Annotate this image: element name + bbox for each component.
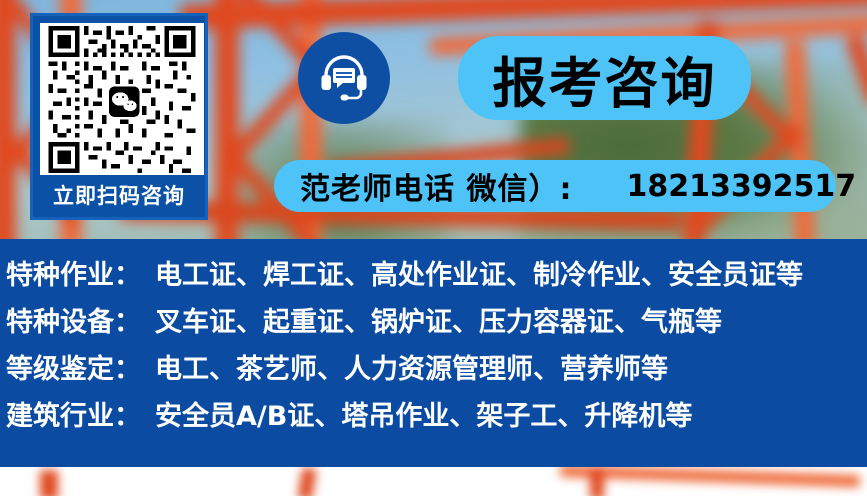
support-headset-badge[interactable] [298, 32, 390, 124]
qr-code-image-frame [40, 23, 204, 175]
promo-poster: 立即扫码咨询 报考咨询 范老师电话 微信）: 18213392517 特种作业： [0, 0, 867, 496]
category-value: 叉车证、起重证、锅炉证、压力容器证、气瓶等 [155, 300, 722, 339]
contact-label: 范老师电话 微信）: [300, 164, 572, 208]
category-row-special-operations: 特种作业： 电工证、焊工证、高处作业证、制冷作业、安全员证等 [0, 253, 867, 300]
category-value: 电工证、焊工证、高处作业证、制冷作业、安全员证等 [155, 253, 803, 292]
category-row-construction-industry: 建筑行业： 安全员A/B证、塔吊作业、架子工、升降机等 [0, 394, 867, 441]
certificate-categories-panel: 特种作业： 电工证、焊工证、高处作业证、制冷作业、安全员证等 特种设备： 叉车证… [0, 239, 867, 467]
category-value: 安全员A/B证、塔吊作业、架子工、升降机等 [155, 394, 692, 433]
contact-phone-pill[interactable]: 范老师电话 微信）: 18213392517 [274, 160, 836, 212]
category-value: 电工、茶艺师、人力资源管理师、营养师等 [155, 347, 668, 386]
category-row-special-equipment: 特种设备： 叉车证、起重证、锅炉证、压力容器证、气瓶等 [0, 300, 867, 347]
category-label: 建筑行业： [6, 394, 141, 433]
headset-icon [314, 48, 374, 108]
category-label: 等级鉴定： [6, 347, 141, 386]
consult-title-pill: 报考咨询 [458, 36, 751, 120]
category-label: 特种作业： [6, 253, 141, 292]
wechat-qr-code-icon [44, 26, 200, 173]
contact-phone-number[interactable]: 18213392517 [626, 169, 856, 204]
category-row-grade-assessment: 等级鉴定： 电工、茶艺师、人力资源管理师、营养师等 [0, 347, 867, 394]
qr-code-card[interactable]: 立即扫码咨询 [30, 13, 208, 220]
qr-card-label: 立即扫码咨询 [40, 175, 198, 217]
consult-title-text: 报考咨询 [493, 39, 717, 118]
category-label: 特种设备： [6, 300, 141, 339]
